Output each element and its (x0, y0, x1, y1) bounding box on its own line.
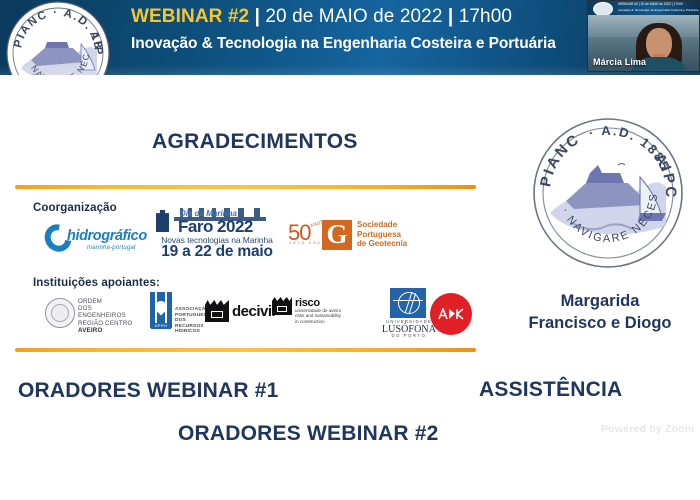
video-banner-rest: | 20 de MAIO de 2022 | 17h00 (638, 2, 683, 6)
lusofona-bar-icon (393, 300, 423, 301)
speaker-name-line-2: Francisco e Diogo (500, 312, 700, 334)
video-banner-title: WEBINAR #2 | 20 de MAIO de 2022 | 17h00 (618, 2, 683, 6)
anek-mark-icon (438, 308, 464, 320)
video-banner-subtitle: Inovação & Tecnologia na Engenharia Cost… (618, 8, 698, 12)
presentation-slide: PIANC · A.D. 1885 · AIPCN NAVIGARE NECES… (0, 0, 700, 500)
banner-title-date: 20 de MAIO de 2022 (265, 6, 442, 27)
divider-top (15, 185, 476, 189)
risco-logo: risco universidade de aveirorisks and su… (272, 297, 352, 329)
heading-oradores-webinar-1: ORADORES WEBINAR #1 (18, 379, 279, 403)
risco-crown-icon (272, 297, 292, 315)
speaker-name-line-1: Margarida (500, 290, 700, 312)
participant-video-tile[interactable]: WEBINAR #2 | 20 de MAIO de 2022 | 17h00 … (587, 0, 700, 72)
spg-years-label: 1970 2020 (289, 240, 326, 245)
anek-logo (430, 293, 472, 335)
aprh-bars-icon: APRH (150, 292, 172, 328)
marinha-line4: 19 a 22 de maio (152, 243, 282, 261)
coorganizacao-label: Coorganização (33, 202, 117, 214)
zoom-watermark: Powered by Zoom (601, 423, 694, 435)
banner-title-sep-2: | (443, 6, 459, 27)
aprh-mark-label: APRH (151, 323, 171, 329)
decivil-crown-icon (205, 300, 229, 322)
video-shared-banner: WEBINAR #2 | 20 de MAIO de 2022 | 17h00 … (588, 1, 699, 15)
risco-subtitle: universidade de aveirorisks and sustaina… (295, 308, 341, 324)
banner-title-highlight: WEBINAR #2 (131, 6, 249, 27)
heading-oradores-webinar-2: ORADORES WEBINAR #2 (178, 422, 439, 446)
spg-name-text: SociedadePortuguesade Geotecnia (357, 220, 407, 249)
video-banner-highlight: WEBINAR #2 (618, 2, 638, 6)
lusofona-emblem-icon (390, 288, 426, 318)
banner-title-sep-1: | (249, 6, 265, 27)
marinha-tower-icon (156, 210, 169, 232)
heading-assistencia: ASSISTÊNCIA (479, 378, 622, 402)
aprh-droplet-icon (153, 299, 170, 316)
ordem-name-text: ORDEMDOS ENGENHEIROSREGIÃO CENTROAVEIRO (78, 298, 140, 334)
marinha-line2: Faro 2022 (178, 217, 253, 237)
pianc-aipcn-logo-large: PIANC · A.D. 1885 · AIPCN · NAVIGARE NEC… (528, 113, 688, 273)
pianc-aipcn-logo: PIANC · A.D. 1885 · AIPCN NAVIGARE NECES… (3, 0, 113, 75)
banner-title-line: WEBINAR #2 | 20 de MAIO de 2022 | 17h00 (131, 6, 601, 28)
decivil-wordmark: decivil (232, 303, 275, 320)
lusofona-globe-icon (398, 292, 420, 314)
hidrografico-logo: hidrográfico marinha-portugal (45, 222, 150, 258)
instituicoes-apoiantes-label: Instituições apoiantes: (33, 277, 160, 289)
ordem-dos-engenheiros-logo: ORDEMDOS ENGENHEIROSREGIÃO CENTROAVEIRO (45, 296, 140, 330)
speaker-names: Margarida Francisco e Diogo (500, 290, 700, 334)
hidrografico-subtitle: marinha-portugal (87, 245, 136, 251)
video-pianc-logo-icon (593, 2, 613, 15)
spg-g-mark: G (322, 220, 352, 250)
ordem-seal-icon (45, 298, 75, 328)
banner-title-time: 17h00 (459, 6, 512, 27)
page-title: AGRADECIMENTOS (152, 130, 358, 154)
participant-name-label: Márcia Lima (593, 57, 646, 67)
banner-text-block: WEBINAR #2 | 20 de MAIO de 2022 | 17h00 … (131, 6, 601, 53)
sociedade-portuguesa-geotecnia-logo: 50 ANOS 1970 2020 G SociedadePortuguesad… (288, 218, 413, 254)
banner-subtitle: Inovação & Tecnologia na Engenharia Cost… (131, 35, 601, 53)
hidrografico-wordmark: hidrográfico (67, 228, 147, 244)
dia-da-marinha-faro-2022-logo: Dia da Marinha Faro 2022 Novas tecnologi… (152, 208, 282, 258)
divider-bottom (15, 348, 476, 352)
